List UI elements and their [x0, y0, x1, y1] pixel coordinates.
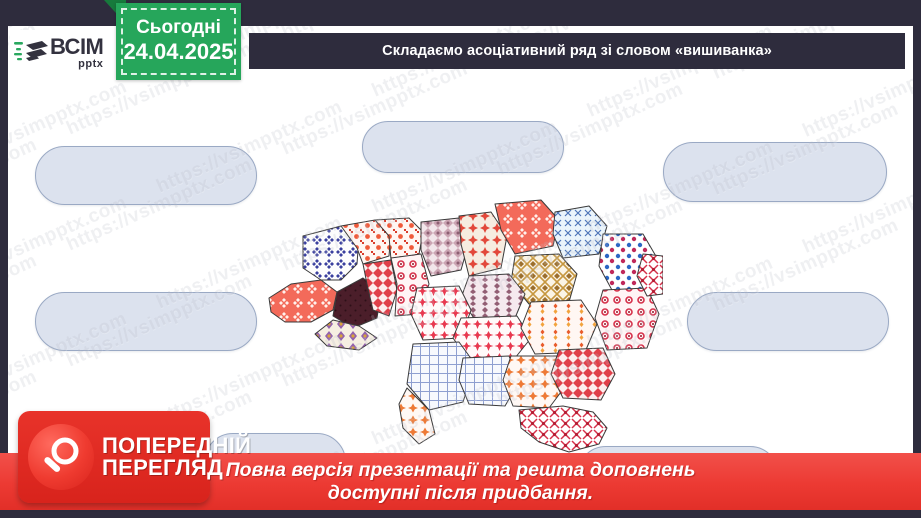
banner-line-1: Повна версія презентації та решта доповн…	[226, 459, 696, 482]
today-date-badge: Сьогодні 24.04.2025	[116, 3, 241, 80]
frame-left	[0, 0, 8, 518]
preview-line-2: ПЕРЕГЛЯД	[102, 457, 251, 479]
today-value: 24.04.2025	[123, 39, 233, 65]
today-label: Сьогодні	[136, 17, 221, 39]
preview-badge: ПОПЕРЕДНІЙ ПЕРЕГЛЯД	[18, 411, 210, 503]
pill-top-left[interactable]	[35, 146, 257, 205]
slide-title-bar: Складаємо асоціативний ряд зі словом «ви…	[249, 33, 905, 69]
banner-line-2: доступні після придбання.	[328, 482, 593, 505]
graduation-cap-icon	[14, 36, 48, 70]
slide-root: https://vsimpptx.com https://vsimpptx.co…	[0, 0, 921, 518]
pill-top-right[interactable]	[663, 142, 887, 202]
frame-right	[913, 0, 921, 518]
vsim-pptx-logo: ВСІМ pptx	[10, 30, 110, 76]
ukraine-vyshyvanka-map	[263, 198, 663, 456]
pill-mid-right[interactable]	[687, 292, 889, 351]
logo-title: ВСІМ	[50, 36, 103, 58]
preview-line-1: ПОПЕРЕДНІЙ	[102, 435, 251, 457]
logo-subtitle: pptx	[50, 59, 103, 70]
magnifier-icon	[28, 424, 94, 490]
pill-mid-left[interactable]	[35, 292, 257, 351]
pill-top-center[interactable]	[362, 121, 564, 173]
frame-bottom	[0, 510, 921, 518]
page-title: Складаємо асоціативний ряд зі словом «ви…	[382, 43, 772, 59]
